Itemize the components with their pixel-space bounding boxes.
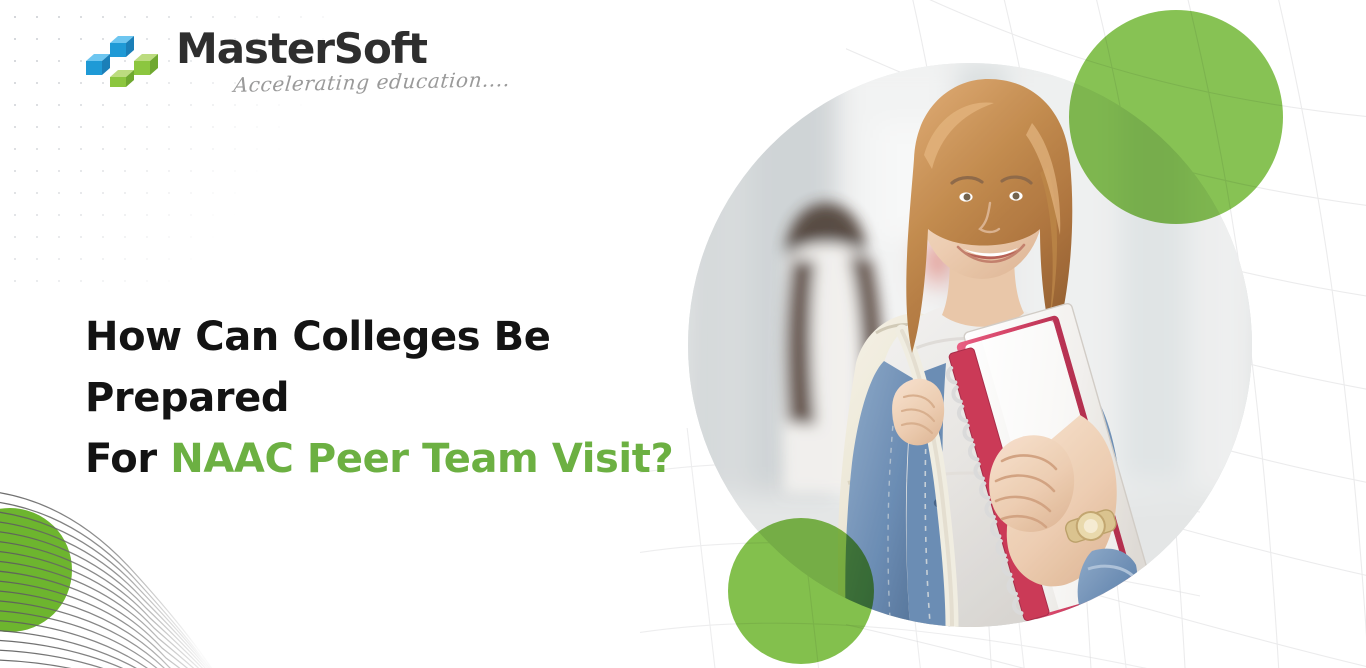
page-title: How Can Colleges Be Prepared For NAAC Pe… (85, 307, 705, 490)
brand-logo[interactable]: MasterSoft Accelerating education.... (84, 28, 427, 88)
brand-tagline: Accelerating education.... (233, 67, 511, 97)
decorative-circle-top-right (1069, 10, 1283, 224)
pinwheel-arrows-icon (84, 32, 168, 88)
decorative-circle-bottom-left (0, 508, 72, 632)
headline-line-2-prefix: For (85, 436, 170, 482)
blog-banner: MasterSoft Accelerating education.... Ho… (0, 0, 1366, 668)
headline-line-1: How Can Colleges Be Prepared (85, 314, 551, 421)
decorative-circle-bottom-center (728, 518, 874, 664)
headline-line-2-accent: NAAC Peer Team Visit? (170, 436, 673, 482)
brand-wordmark: MasterSoft (176, 28, 427, 70)
